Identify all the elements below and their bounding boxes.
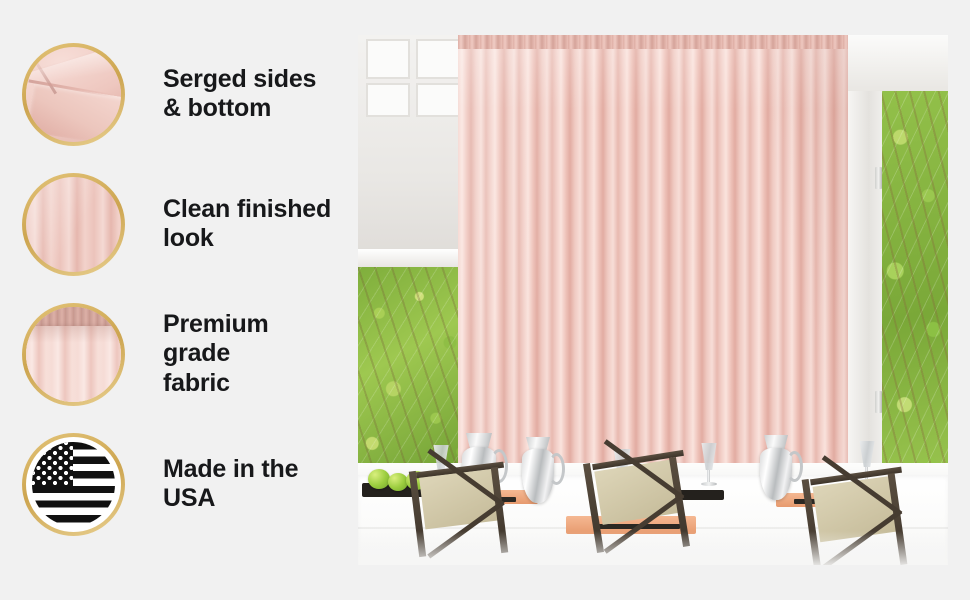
product-photo bbox=[358, 35, 948, 565]
feature-label: Made in the USA bbox=[163, 455, 298, 514]
window-pane bbox=[366, 83, 410, 117]
usa-flag-stripes bbox=[32, 442, 116, 526]
pitcher-handle bbox=[786, 451, 803, 482]
chair-back-pad bbox=[419, 469, 501, 530]
feature-item-clean-finished-look: Clean finished look bbox=[22, 168, 342, 280]
window-pane bbox=[366, 39, 410, 79]
feature-label: Clean finished look bbox=[163, 195, 331, 254]
usa-flag-canton bbox=[32, 442, 74, 486]
curtain-drape-pleats bbox=[26, 326, 121, 402]
photo-bottom-fade bbox=[358, 531, 948, 565]
pink-curtain-backdrop bbox=[458, 35, 856, 505]
feature-item-made-in-the-usa: Made in the USA bbox=[22, 428, 342, 540]
feature-icon-ring bbox=[22, 43, 125, 146]
door-header-panel bbox=[848, 35, 948, 91]
curtain-rod-pocket-icon bbox=[26, 307, 121, 402]
crystal-goblet-foot bbox=[701, 482, 717, 486]
feature-label: Premium grade fabric bbox=[163, 310, 342, 398]
serged-fabric-corner-icon bbox=[26, 47, 121, 142]
feature-item-serged-sides-bottom: Serged sides & bottom bbox=[22, 38, 342, 150]
feature-icon-ring bbox=[22, 433, 125, 536]
smooth-pink-fabric-icon bbox=[26, 177, 121, 272]
green-apple bbox=[388, 473, 408, 491]
green-apple bbox=[368, 469, 390, 489]
serged-edge-line bbox=[32, 57, 57, 94]
usa-flag-stars bbox=[32, 442, 74, 486]
curtain-top-header bbox=[458, 35, 856, 49]
pitcher-handle bbox=[548, 453, 565, 485]
feature-icon-ring bbox=[22, 303, 125, 406]
door-frame-right bbox=[848, 35, 886, 505]
feature-list: Serged sides & bottom Clean finished loo… bbox=[22, 38, 342, 568]
window-pane bbox=[416, 83, 462, 117]
door-hinge bbox=[875, 167, 882, 189]
product-feature-banner: Serged sides & bottom Clean finished loo… bbox=[0, 0, 970, 600]
feature-item-premium-grade-fabric: Premium grade fabric bbox=[22, 298, 342, 410]
garden-foliage-right bbox=[882, 87, 948, 505]
serged-seam-line bbox=[28, 80, 115, 98]
usa-flag-roundel-icon bbox=[26, 437, 121, 532]
feature-label: Serged sides & bottom bbox=[163, 65, 316, 124]
door-hinge bbox=[875, 391, 882, 413]
feature-icon-ring bbox=[22, 173, 125, 276]
window-pane bbox=[416, 39, 462, 79]
